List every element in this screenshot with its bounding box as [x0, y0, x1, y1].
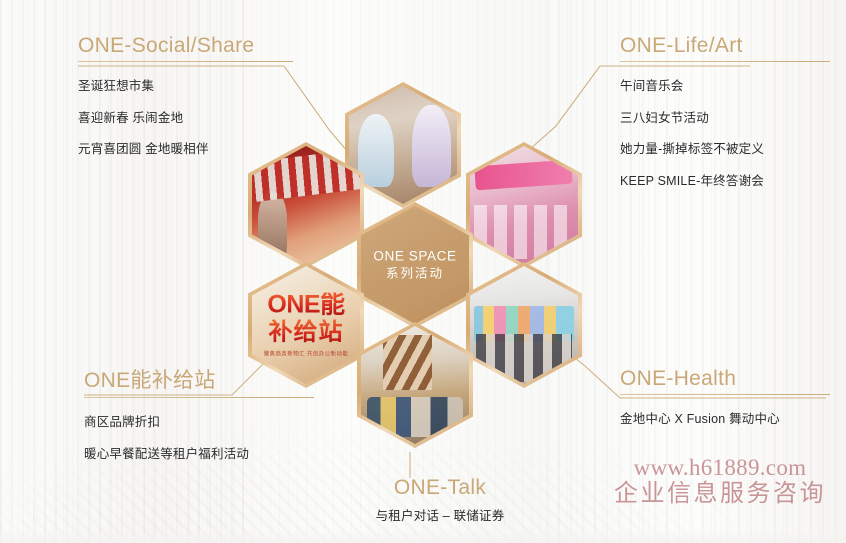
- hex-photo-pink-event-wall[interactable]: [466, 142, 582, 268]
- hex-photo-office-talk[interactable]: [357, 322, 473, 448]
- christmas-market-photo: [252, 146, 360, 264]
- section-life-title: ONE-Life/Art: [620, 34, 830, 58]
- logo-line-1: ONE能: [252, 292, 360, 317]
- section-talk-list: 与租户对话 – 联储证券: [330, 510, 550, 523]
- list-item: KEEP SMILE-年终答谢会: [620, 175, 830, 188]
- hex-inner: [470, 266, 578, 384]
- hex-inner: [349, 86, 457, 204]
- pink-event-wall-photo: [470, 146, 578, 264]
- watermark-url: www.h61889.com: [600, 455, 840, 481]
- list-item: 三八妇女节活动: [620, 112, 830, 125]
- list-item: 商区品牌折扣: [84, 416, 314, 429]
- hex-center-one-space[interactable]: ONE SPACE 系列活动: [357, 202, 473, 328]
- section-life: ONE-Life/Art 午间音乐会 三八妇女节活动 她力量-撕掉标签不被定义 …: [620, 34, 830, 187]
- section-life-rule: [620, 61, 830, 62]
- center-title: ONE SPACE: [361, 247, 469, 266]
- section-supply-rule: [84, 397, 314, 398]
- group-photo: [470, 266, 578, 384]
- section-health: ONE-Health 金地中心 X Fusion 舞动中心: [620, 367, 830, 426]
- watermark: www.h61889.com 企业信息服务咨询: [600, 455, 840, 508]
- list-item: 暖心早餐配送等租户福利活动: [84, 448, 314, 461]
- kids-workshop-photo: [349, 86, 457, 204]
- section-supply-title: ONE能补给站: [84, 364, 314, 394]
- office-talk-photo: [361, 326, 469, 444]
- center-label: ONE SPACE 系列活动: [361, 247, 469, 284]
- logo-line-2: 补给站: [252, 319, 360, 344]
- poster-canvas: ONE SPACE 系列活动 ONE能 补给站 聚焦商务新物汇 共创办公新动能 …: [0, 0, 846, 543]
- list-item: 圣诞狂想市集: [78, 80, 293, 93]
- section-health-rule: [620, 394, 830, 395]
- section-social-list: 圣诞狂想市集 喜迎新春 乐闹金地 元宵喜团圆 金地暖相伴: [78, 80, 293, 156]
- section-life-list: 午间音乐会 三八妇女节活动 她力量-撕掉标签不被定义 KEEP SMILE-年终…: [620, 80, 830, 187]
- list-item: 元宵喜团圆 金地暖相伴: [78, 143, 293, 156]
- list-item: 喜迎新春 乐闹金地: [78, 112, 293, 125]
- section-health-list: 金地中心 X Fusion 舞动中心: [620, 413, 830, 426]
- section-social: ONE-Social/Share 圣诞狂想市集 喜迎新春 乐闹金地 元宵喜团圆 …: [78, 34, 293, 156]
- section-social-rule: [78, 61, 293, 62]
- list-item: 她力量-撕掉标签不被定义: [620, 143, 830, 156]
- hex-inner: [252, 146, 360, 264]
- logo-tagline: 聚焦商务新物汇 共创办公新动能: [252, 350, 360, 358]
- logo-text-block: ONE能 补给站 聚焦商务新物汇 共创办公新动能: [252, 292, 360, 357]
- section-supply-list: 商区品牌折扣 暖心早餐配送等租户福利活动: [84, 416, 314, 460]
- center-subtitle: 系列活动: [361, 266, 469, 284]
- connector-life: [520, 66, 620, 158]
- list-item: 午间音乐会: [620, 80, 830, 93]
- section-health-title: ONE-Health: [620, 367, 830, 391]
- background-bottom-fade: [0, 529, 846, 543]
- watermark-text: 企业信息服务咨询: [600, 481, 840, 508]
- list-item: 与租户对话 – 联储证券: [330, 510, 550, 523]
- hex-inner: [361, 326, 469, 444]
- section-social-title: ONE-Social/Share: [78, 34, 293, 58]
- section-talk-title: ONE-Talk: [330, 476, 550, 500]
- hex-photo-group[interactable]: [466, 262, 582, 388]
- hex-inner: ONE SPACE 系列活动: [361, 206, 469, 324]
- section-talk: ONE-Talk 与租户对话 – 联储证券: [330, 476, 550, 523]
- hex-inner: [470, 146, 578, 264]
- list-item: 金地中心 X Fusion 舞动中心: [620, 413, 830, 426]
- section-supply: ONE能补给站 商区品牌折扣 暖心早餐配送等租户福利活动: [84, 364, 314, 460]
